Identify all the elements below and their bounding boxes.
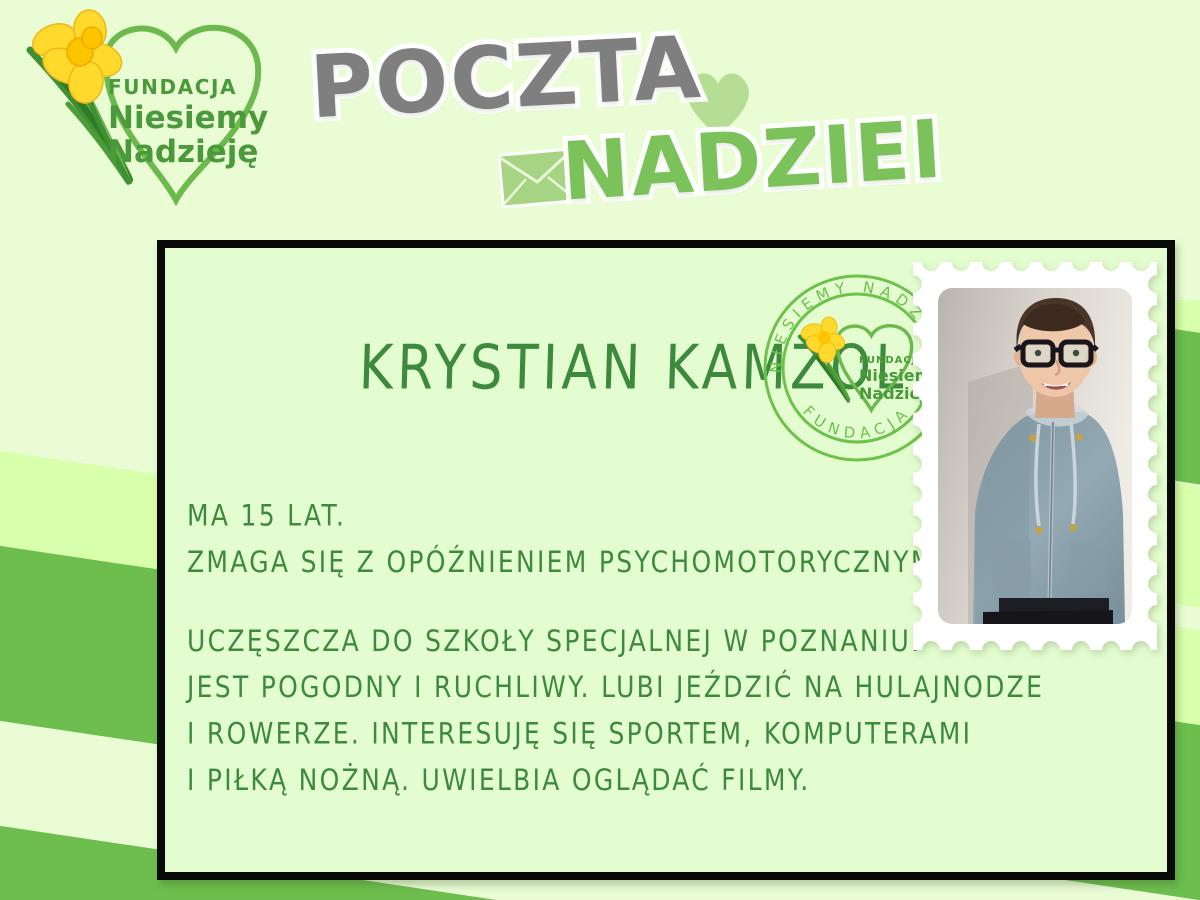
description-paragraph: UCZĘSZCZA DO SZKOŁY SPECJALNEJ W POZNANI… xyxy=(187,618,977,804)
portrait-photo xyxy=(938,288,1132,624)
description-line: MA 15 LAT. xyxy=(187,493,977,539)
description-line: I ROWERZE. INTERESUJĘ SIĘ SPORTEM, KOMPU… xyxy=(187,711,977,757)
logo-brand-line3: Nadzieję xyxy=(108,134,258,170)
profile-card-inner: KRYSTIAN KAMZOL MA 15 LAT. ZMAGA SIĘ Z O… xyxy=(165,248,1167,872)
profile-description: MA 15 LAT. ZMAGA SIĘ Z OPÓŹNIENIEM PSYCH… xyxy=(187,493,977,836)
poster-canvas: FUNDACJA Niesiemy Nadzieję POCZTA NADZI xyxy=(0,0,1200,900)
poster-title: POCZTA NADZIEI xyxy=(300,18,940,228)
logo-brand-line1: FUNDACJA xyxy=(108,75,237,99)
description-line: UCZĘSZCZA DO SZKOŁY SPECJALNEJ W POZNANI… xyxy=(187,618,977,664)
profile-card: KRYSTIAN KAMZOL MA 15 LAT. ZMAGA SIĘ Z O… xyxy=(157,240,1175,880)
description-line: JEST POGODNY I RUCHLIWY. LUBI JEŹDZIĆ NA… xyxy=(187,665,977,711)
foundation-logo: FUNDACJA Niesiemy Nadzieję xyxy=(8,8,298,220)
logo-brand-line2: Niesiemy xyxy=(108,100,268,136)
seal-arc-bottom-text: FUNDACJA xyxy=(799,402,914,442)
description-line: ZMAGA SIĘ Z OPÓŹNIENIEM PSYCHOMOTORYCZNY… xyxy=(187,539,977,585)
postage-stamp xyxy=(913,262,1157,650)
poster-header: FUNDACJA Niesiemy Nadzieję POCZTA NADZI xyxy=(0,0,1200,240)
description-line: I PIŁKĄ NOŻNĄ. UWIELBIA OGLĄDAĆ FILMY. xyxy=(187,757,977,803)
description-paragraph: MA 15 LAT. ZMAGA SIĘ Z OPÓŹNIENIEM PSYCH… xyxy=(187,493,977,586)
